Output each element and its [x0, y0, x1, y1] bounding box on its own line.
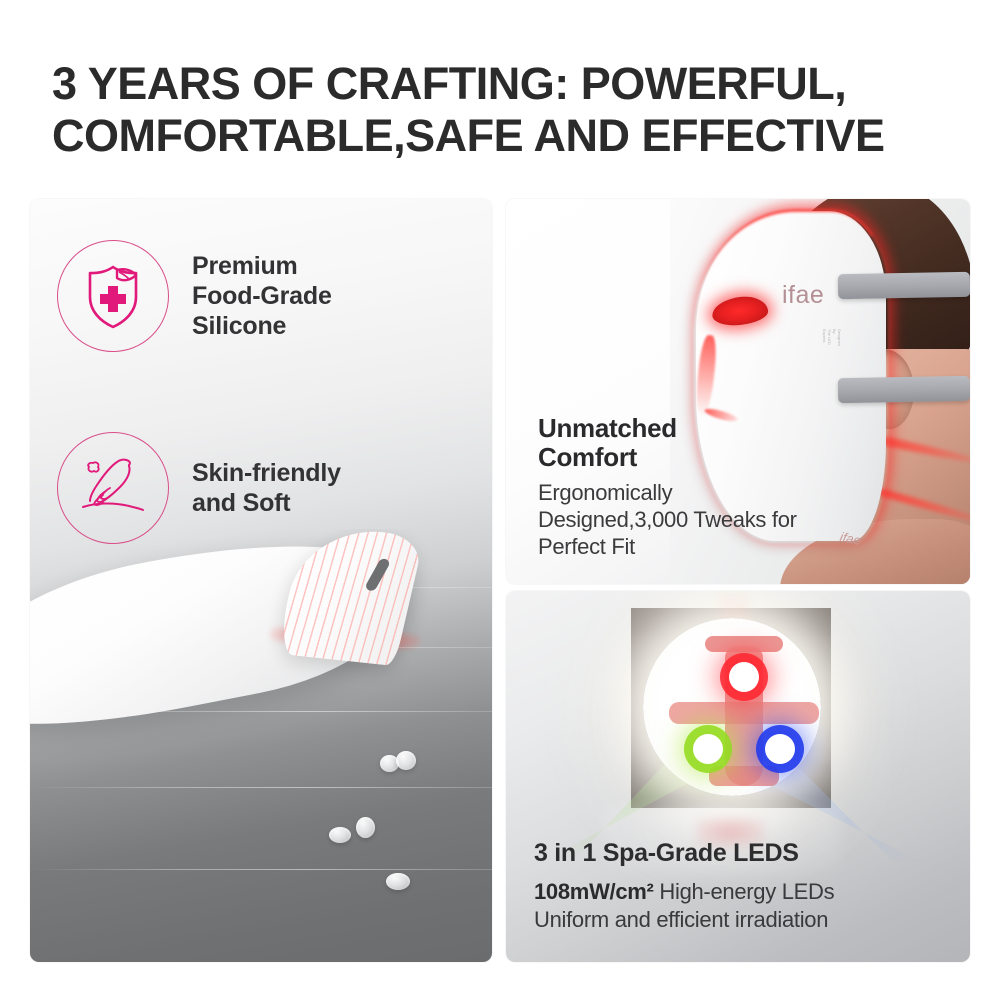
comfort-text-block: Unmatched Comfort Ergonomically Designed…	[538, 414, 798, 560]
surface-reflection-line	[30, 787, 492, 788]
led-pattern-horizontal	[669, 702, 819, 724]
headline-line2: COMFORTABLE,SAFE AND EFFECTIVE	[52, 110, 885, 161]
blue-led-lamp	[765, 734, 795, 764]
page-headline: 3 YEARS OF CRAFTING: POWERFUL, COMFORTAB…	[52, 58, 952, 162]
surface-reflection-line	[30, 869, 492, 870]
badge-circle-frame	[57, 240, 169, 352]
fin-slot	[364, 557, 391, 592]
silicone-mask-photo	[30, 529, 492, 962]
headline-rest: POWERFUL,	[569, 58, 846, 109]
infographic-canvas: 3 YEARS OF CRAFTING: POWERFUL, COMFORTAB…	[0, 0, 1000, 1000]
headline-accent: 3 YEARS OF CRAFTING:	[52, 58, 569, 109]
head-strap-upper	[838, 272, 970, 299]
brand-logo-text: ifae	[782, 281, 824, 310]
green-led-lamp	[693, 734, 723, 764]
badge-label: Skin-friendly and Soft	[192, 458, 341, 518]
water-droplet	[356, 817, 375, 838]
silicone-feature-panel: Premium Food-Grade Silicone Skin-friendl…	[30, 199, 492, 962]
leds-text-block: 3 in 1 Spa-Grade LEDS 108mW/cm² High-ene…	[534, 839, 944, 934]
water-droplet	[329, 827, 351, 843]
shield-leaf-cross-icon	[76, 259, 150, 333]
water-droplet	[386, 873, 410, 890]
leds-title: 3 in 1 Spa-Grade LEDS	[534, 839, 944, 868]
feature-badge-skin-friendly: Skin-friendly and Soft	[57, 432, 341, 544]
leds-spec-line2: Uniform and efficient irradiation	[534, 906, 944, 934]
badge-circle-frame	[57, 432, 169, 544]
badge-label: Premium Food-Grade Silicone	[192, 251, 332, 341]
red-led-lamp	[729, 662, 759, 692]
led-module-disc	[643, 618, 821, 796]
mask-fineprint: Designed By The LED Experts	[822, 329, 842, 345]
comfort-body: Ergonomically Designed,3,000 Tweaks for …	[538, 479, 798, 560]
leds-feature-panel: 3 in 1 Spa-Grade LEDS 108mW/cm² High-ene…	[506, 591, 970, 962]
hand-soft-touch-icon	[73, 451, 153, 525]
comfort-title: Unmatched Comfort	[538, 414, 798, 472]
feature-badge-premium-silicone: Premium Food-Grade Silicone	[57, 240, 332, 352]
comfort-feature-panel: ifae Designed By The LED Experts ifae Un…	[506, 199, 970, 584]
water-droplet	[396, 751, 416, 770]
leds-spec-value: 108mW/cm²	[534, 879, 654, 904]
led-module-photo	[631, 608, 831, 808]
leds-spec-text: 108mW/cm² High-energy LEDs Uniform and e…	[534, 878, 944, 934]
led-pattern-foot	[709, 766, 779, 786]
head-strap-lower	[838, 376, 970, 403]
leds-spec-rest: High-energy LEDs	[654, 879, 835, 904]
